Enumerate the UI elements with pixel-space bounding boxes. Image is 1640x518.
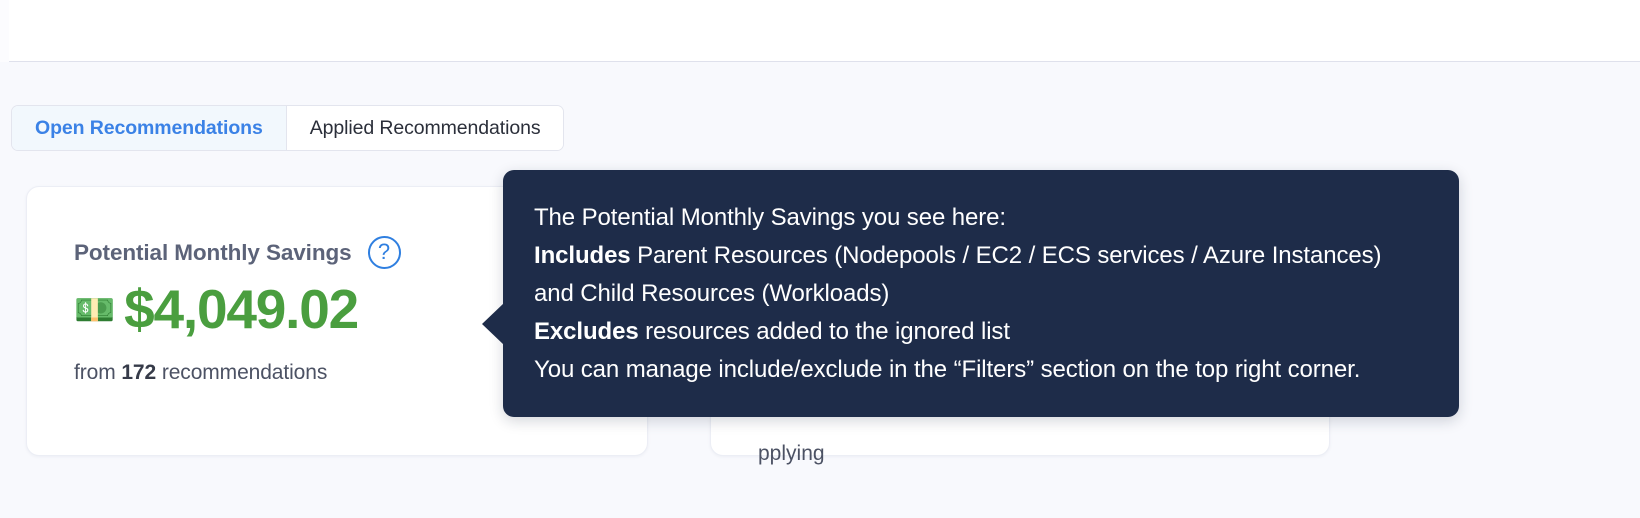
money-banknotes-icon: 💵 — [74, 293, 115, 326]
tooltip-includes-text: Parent Resources (Nodepools / EC2 / ECS … — [534, 242, 1381, 307]
from-suffix-label: recommendations — [156, 361, 327, 384]
secondary-card-partial-text: pplying — [758, 442, 825, 466]
recommendations-count: 172 — [121, 361, 156, 384]
tab-open-recommendations[interactable]: Open Recommendations — [12, 106, 286, 150]
savings-info-tooltip: The Potential Monthly Savings you see he… — [503, 170, 1459, 417]
from-prefix-label: from — [74, 361, 121, 384]
page-title: Potential Monthly Savings — [74, 240, 352, 266]
question-mark-glyph: ? — [378, 241, 390, 263]
tab-bar: Open Recommendations Applied Recommendat… — [11, 105, 564, 151]
tooltip-arrow — [482, 303, 504, 345]
page-body: Open Recommendations Applied Recommendat… — [0, 63, 1640, 518]
tooltip-includes-label: Includes — [534, 242, 631, 269]
tooltip-line-1: The Potential Monthly Savings you see he… — [534, 199, 1427, 237]
tooltip-line-4: You can manage include/exclude in the “F… — [534, 351, 1427, 389]
top-header-bar — [0, 0, 1640, 62]
tooltip-excludes-text: resources added to the ignored list — [639, 318, 1010, 345]
tooltip-excludes-label: Excludes — [534, 318, 639, 345]
savings-amount-value: $4,049.02 — [124, 281, 358, 339]
question-mark-icon[interactable]: ? — [368, 236, 401, 269]
header-left-edge — [0, 0, 9, 62]
tooltip-line-2: Includes Parent Resources (Nodepools / E… — [534, 237, 1427, 313]
tooltip-line-3: Excludes resources added to the ignored … — [534, 313, 1427, 351]
tab-applied-recommendations[interactable]: Applied Recommendations — [286, 106, 564, 150]
